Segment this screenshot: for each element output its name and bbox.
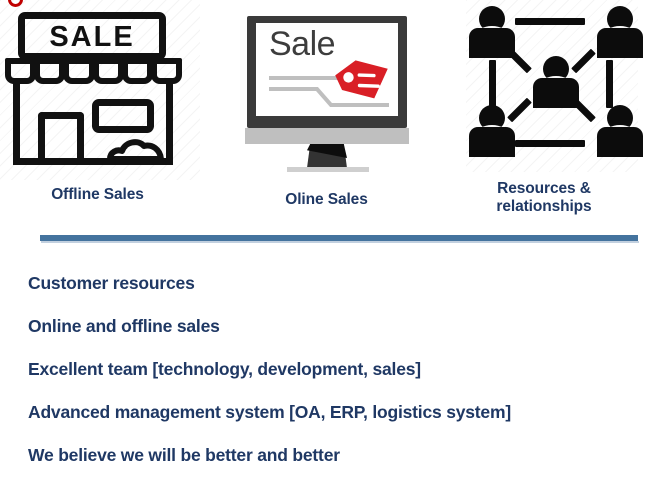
person-icon: [469, 6, 515, 58]
bullet-item: Online and offline sales: [28, 316, 220, 337]
store-sign-label: SALE: [18, 16, 166, 60]
bullet-item: Advanced management system [OA, ERP, log…: [28, 402, 511, 423]
store-window: [92, 99, 154, 133]
monitor-chin: [245, 128, 409, 144]
price-tag-icon: [332, 55, 394, 105]
network-link-bottom: [515, 140, 585, 147]
bullet-item: Excellent team [technology, development,…: [28, 359, 421, 380]
awning-tab: [93, 58, 124, 84]
person-shoulders: [469, 127, 515, 157]
network-link-left: [489, 60, 496, 108]
person-shoulders: [533, 78, 579, 108]
icon-caption-resources-line2: relationships: [458, 198, 630, 216]
icon-caption-offline-sales: Offline Sales: [0, 186, 195, 204]
icon-caption-online-sales: Oline Sales: [244, 191, 409, 209]
screen-sale-label: Sale: [269, 23, 335, 65]
network-link-top: [515, 18, 585, 25]
section-divider-shadow: [41, 241, 639, 243]
network-link-right: [606, 60, 613, 108]
person-shoulders: [597, 127, 643, 157]
person-shoulders: [469, 28, 515, 58]
person-icon: [469, 105, 515, 157]
icon-cell-offline-sales: SALE Offline Sales: [0, 0, 195, 175]
awning-tab: [63, 58, 94, 84]
awning-tab: [122, 58, 153, 84]
bullet-item: Customer resources: [28, 273, 195, 294]
slide-canvas: SALE Offline Sales: [0, 0, 655, 490]
people-network-icon: [460, 0, 655, 172]
awning-tab: [34, 58, 65, 84]
person-shoulders: [597, 28, 643, 58]
storefront-sale-icon: SALE: [0, 0, 195, 175]
store-awning: [5, 58, 180, 84]
store-bush-icon: [106, 135, 166, 160]
icon-caption-resources-line1: Resources &: [458, 180, 630, 198]
person-icon: [597, 6, 643, 58]
bullet-item: We believe we will be better and better: [28, 445, 340, 466]
icon-cell-resources-relationships: Resources & relationships: [460, 0, 655, 172]
person-icon-center: [533, 56, 579, 108]
awning-tab: [151, 58, 182, 84]
awning-tab: [5, 58, 36, 84]
person-icon: [597, 105, 643, 157]
icon-row: SALE Offline Sales: [0, 0, 655, 225]
store-ground-line: [13, 158, 173, 165]
monitor-stand-foot: [287, 167, 369, 172]
